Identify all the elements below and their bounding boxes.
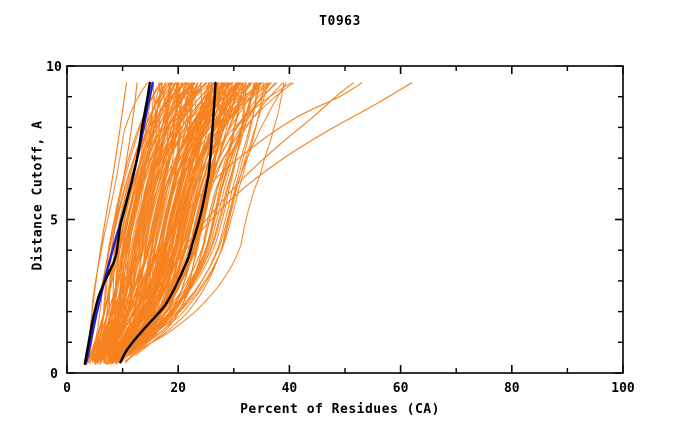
x-tick-label: 60 [393,381,409,396]
x-tick-label: 80 [504,381,520,396]
x-tick-label: 40 [282,381,298,396]
plot-canvas: 0204060801000510 [0,0,680,440]
x-tick-label: 0 [63,381,71,396]
x-tick-label: 20 [170,381,186,396]
y-tick-label: 0 [50,367,58,382]
chart-root: T0963 Distance Cutoff, A Percent of Resi… [0,0,680,440]
y-tick-label: 10 [46,60,62,75]
y-tick-label: 5 [50,214,58,229]
ensemble-curves [87,83,412,365]
x-tick-label: 100 [611,381,635,396]
